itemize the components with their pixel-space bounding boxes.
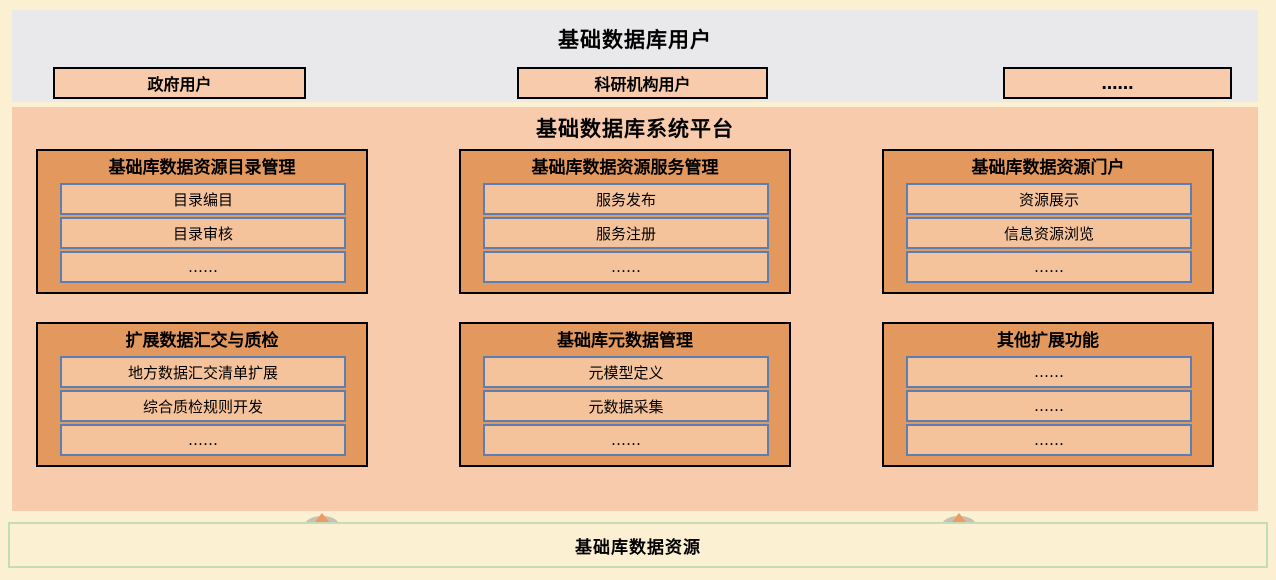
module-item[interactable]: 元模型定义 <box>483 356 769 388</box>
module-service-management[interactable]: 基础库数据资源服务管理 服务发布 服务注册 …… <box>459 149 791 294</box>
module-item-label: 元模型定义 <box>588 362 663 383</box>
users-band: 基础数据库用户 政府用户 科研机构用户 …… <box>12 10 1258 102</box>
module-item-label: 元数据采集 <box>588 396 663 417</box>
user-box-others[interactable]: …… <box>1003 67 1232 99</box>
module-resource-portal[interactable]: 基础库数据资源门户 资源展示 信息资源浏览 …… <box>882 149 1214 294</box>
module-item-label: …… <box>611 431 641 449</box>
module-item[interactable]: …… <box>906 390 1192 422</box>
module-item-list: 地方数据汇交清单扩展 综合质检规则开发 …… <box>46 356 358 456</box>
resources-band: 基础库数据资源 <box>8 522 1268 568</box>
module-row: 扩展数据汇交与质检 地方数据汇交清单扩展 综合质检规则开发 …… 基础库元数据管… <box>36 322 1214 467</box>
module-item-label: 综合质检规则开发 <box>143 396 263 417</box>
platform-band-title: 基础数据库系统平台 <box>12 113 1258 143</box>
module-grid: 基础库数据资源目录管理 目录编目 目录审核 …… 基础库数据资源服务管理 服务发… <box>36 149 1214 467</box>
module-item[interactable]: 地方数据汇交清单扩展 <box>60 356 346 388</box>
module-item[interactable]: 信息资源浏览 <box>906 217 1192 249</box>
module-item[interactable]: …… <box>906 424 1192 456</box>
module-item-label: …… <box>188 258 218 276</box>
module-title: 基础库数据资源门户 <box>892 155 1204 183</box>
users-band-title: 基础数据库用户 <box>12 24 1258 54</box>
module-item[interactable]: …… <box>906 251 1192 283</box>
module-row: 基础库数据资源目录管理 目录编目 目录审核 …… 基础库数据资源服务管理 服务发… <box>36 149 1214 294</box>
module-item-list: 目录编目 目录审核 …… <box>46 183 358 283</box>
module-title: 扩展数据汇交与质检 <box>46 328 358 356</box>
module-item-list: 元模型定义 元数据采集 …… <box>469 356 781 456</box>
module-item[interactable]: …… <box>906 356 1192 388</box>
module-item[interactable]: …… <box>483 424 769 456</box>
module-item[interactable]: …… <box>60 251 346 283</box>
user-box-label: 科研机构用户 <box>594 71 690 95</box>
module-title: 基础库数据资源服务管理 <box>469 155 781 183</box>
module-item-label: 目录审核 <box>173 223 233 244</box>
module-catalog-management[interactable]: 基础库数据资源目录管理 目录编目 目录审核 …… <box>36 149 368 294</box>
module-item-label: 目录编目 <box>173 189 233 210</box>
module-item[interactable]: 综合质检规则开发 <box>60 390 346 422</box>
module-item-label: …… <box>611 258 641 276</box>
module-item-list: 服务发布 服务注册 …… <box>469 183 781 283</box>
platform-band: 基础数据库系统平台 基础库数据资源目录管理 目录编目 目录审核 …… 基础库数据… <box>12 107 1258 511</box>
module-item[interactable]: 元数据采集 <box>483 390 769 422</box>
user-box-label: 政府用户 <box>147 71 211 95</box>
module-item-list: 资源展示 信息资源浏览 …… <box>892 183 1204 283</box>
user-box-label: …… <box>1102 74 1134 93</box>
module-item-label: 信息资源浏览 <box>1004 223 1094 244</box>
module-item-label: …… <box>1034 258 1064 276</box>
module-other-extensions[interactable]: 其他扩展功能 …… …… …… <box>882 322 1214 467</box>
module-title: 基础库数据资源目录管理 <box>46 155 358 183</box>
module-data-submission-quality[interactable]: 扩展数据汇交与质检 地方数据汇交清单扩展 综合质检规则开发 …… <box>36 322 368 467</box>
module-item-label: …… <box>1034 397 1064 415</box>
module-item[interactable]: …… <box>483 251 769 283</box>
module-item-label: 服务注册 <box>596 223 656 244</box>
module-item[interactable]: 服务发布 <box>483 183 769 215</box>
resources-band-title: 基础库数据资源 <box>575 533 701 558</box>
module-item-label: …… <box>1034 363 1064 381</box>
module-item-label: 地方数据汇交清单扩展 <box>128 362 278 383</box>
module-item-label: …… <box>1034 431 1064 449</box>
module-title: 其他扩展功能 <box>892 328 1204 356</box>
module-item[interactable]: 目录审核 <box>60 217 346 249</box>
module-item-label: 服务发布 <box>596 189 656 210</box>
module-item-label: …… <box>188 431 218 449</box>
module-metadata-management[interactable]: 基础库元数据管理 元模型定义 元数据采集 …… <box>459 322 791 467</box>
module-item-list: …… …… …… <box>892 356 1204 456</box>
module-item[interactable]: 目录编目 <box>60 183 346 215</box>
module-item[interactable]: …… <box>60 424 346 456</box>
user-box-research-institution[interactable]: 科研机构用户 <box>517 67 768 99</box>
module-title: 基础库元数据管理 <box>469 328 781 356</box>
module-item[interactable]: 服务注册 <box>483 217 769 249</box>
module-item[interactable]: 资源展示 <box>906 183 1192 215</box>
module-item-label: 资源展示 <box>1019 189 1079 210</box>
user-box-government[interactable]: 政府用户 <box>53 67 306 99</box>
